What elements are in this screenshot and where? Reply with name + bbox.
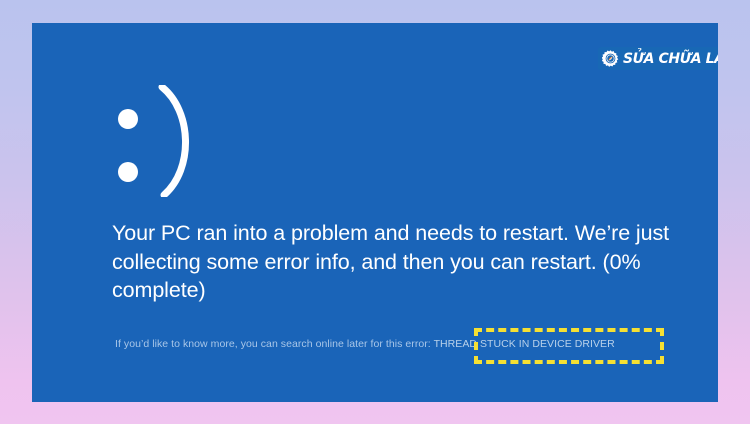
sad-face-eye-top [118, 109, 138, 129]
watermark-brand-name: SỬA CHỮA LAPTOP [623, 52, 718, 66]
bsod-stop-code: THREAD STUCK IN DEVICE DRIVER [434, 338, 615, 350]
bsod-screen: Your PC ran into a problem and needs to … [32, 23, 718, 402]
watermark-text: SỬA CHỮA LAPTOP 24h.com [623, 52, 718, 66]
gear-compass-icon [602, 50, 619, 67]
watermark-badge: SỬA CHỮA LAPTOP 24h.com [598, 47, 718, 70]
sad-face-eye-bottom [118, 162, 138, 182]
bsod-search-online-line: If you’d like to know more, you can sear… [115, 337, 615, 351]
bsod-message: Your PC ran into a problem and needs to … [112, 219, 702, 305]
search-online-text: If you’d like to know more, you can sear… [115, 338, 431, 350]
sad-face-emoticon [114, 85, 234, 200]
sad-face-mouth-icon [152, 85, 198, 197]
